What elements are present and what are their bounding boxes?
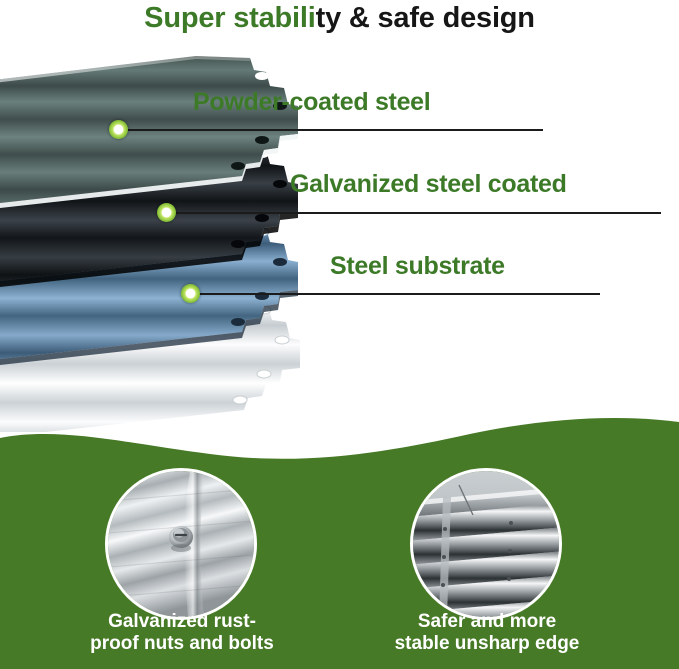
inset-unsharp-edge xyxy=(410,468,562,620)
callout-label-powder-coated-steel: Powder-coated steel xyxy=(193,88,430,117)
caption-nuts-and-bolts: Galvanized rust- proof nuts and bolts xyxy=(52,611,312,655)
caption-unsharp-edge-line1: Safer and more xyxy=(357,611,617,633)
caption-nuts-and-bolts-line1: Galvanized rust- xyxy=(52,611,312,633)
leader-line-powder-coated xyxy=(118,129,543,131)
caption-nuts-and-bolts-line2: proof nuts and bolts xyxy=(52,633,312,655)
caption-unsharp-edge: Safer and more stable unsharp edge xyxy=(357,611,617,655)
infographic-root: Super stability & safe design xyxy=(0,0,679,669)
inset-nuts-and-bolts xyxy=(105,468,257,620)
marker-dot-substrate xyxy=(181,284,200,303)
page-title-black-part: ty & safe design xyxy=(316,2,535,34)
caption-unsharp-edge-line2: stable unsharp edge xyxy=(357,633,617,655)
leader-line-galvanized xyxy=(166,212,661,214)
page-title-green-part: Super stabili xyxy=(144,2,315,34)
marker-dot-galvanized xyxy=(157,203,176,222)
callout-label-steel-substrate: Steel substrate xyxy=(330,252,505,281)
page-title: Super stability & safe design xyxy=(0,2,679,35)
callout-label-galvanized-steel: Galvanized steel coated xyxy=(290,170,567,199)
marker-dot-powder-coated xyxy=(109,120,128,139)
leader-line-substrate xyxy=(190,293,600,295)
